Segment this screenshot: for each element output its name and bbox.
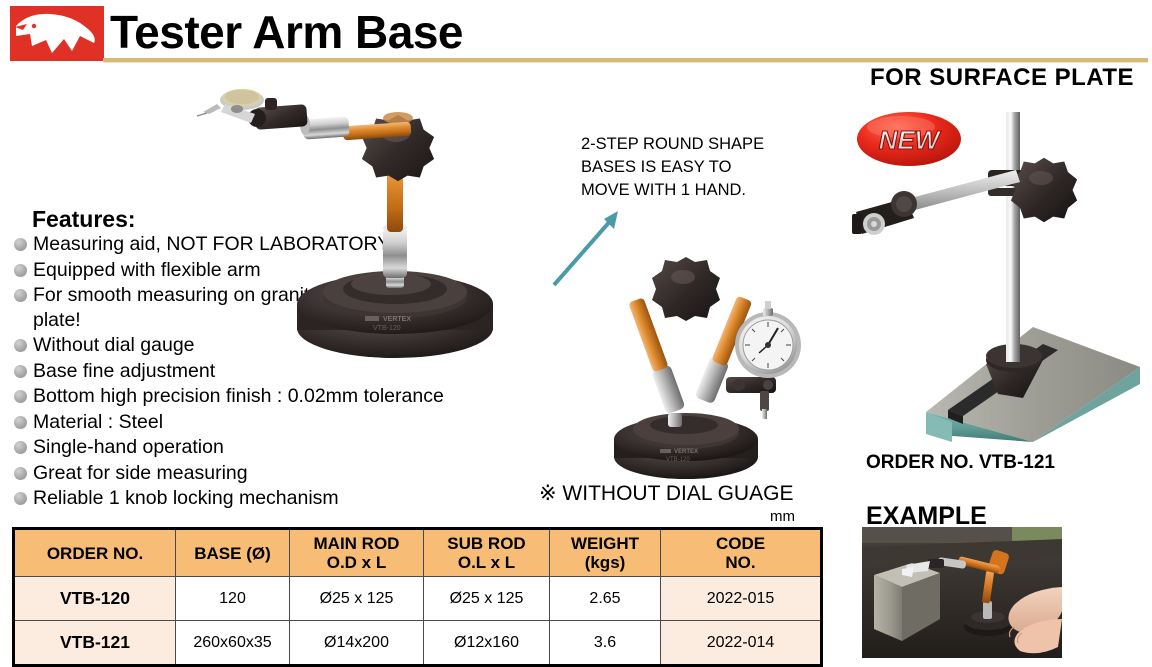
list-item: Bottom high precision finish : 0.02mm to…	[14, 384, 484, 409]
bullet-icon	[14, 238, 27, 251]
table-row: VTB-121 260x60x35 Ø14x200 Ø12x160 3.6 20…	[14, 621, 822, 666]
bullet-icon	[14, 441, 27, 454]
feature-text: Single-hand operation	[33, 435, 224, 460]
features-heading: Features:	[32, 206, 136, 233]
bullet-icon	[14, 416, 27, 429]
feature-text: Great for side measuring	[33, 461, 248, 486]
order-no-label: ORDER NO. VTB-121	[866, 452, 1055, 474]
svg-text:VERTEX: VERTEX	[674, 449, 698, 455]
bullet-icon	[14, 264, 27, 277]
cell-weight: 3.6	[550, 621, 661, 666]
svg-text:NEW: NEW	[879, 125, 942, 155]
tester-arm-with-dial-gauge-photo: VERTEX VTB-120	[608, 245, 828, 490]
for-surface-plate-heading: FOR SURFACE PLATE	[870, 64, 1134, 92]
svg-text:VTB-120: VTB-120	[666, 457, 690, 463]
cell-code-no: 2022-015	[661, 577, 822, 621]
feature-text: Reliable 1 knob locking mechanism	[33, 486, 339, 511]
list-item: Material : Steel	[14, 410, 484, 435]
svg-text:VERTEX: VERTEX	[383, 316, 411, 323]
cell-sub-rod: Ø25 x 125	[424, 577, 550, 621]
cell-order-no: VTB-120	[14, 577, 176, 621]
cell-order-no: VTB-121	[14, 621, 176, 666]
table-header-row: ORDER NO. BASE (Ø) MAIN RODO.D x L SUB R…	[14, 529, 822, 577]
bullet-icon	[14, 467, 27, 480]
column-header-base: BASE (Ø)	[176, 529, 290, 577]
header-divider-shadow	[103, 62, 1148, 63]
table-row: VTB-120 120 Ø25 x 125 Ø25 x 125 2.65 202…	[14, 577, 822, 621]
cell-code-no: 2022-014	[661, 621, 822, 666]
new-badge: NEW	[855, 110, 963, 168]
bullet-icon	[14, 390, 27, 403]
feature-text: Material : Steel	[33, 410, 163, 435]
specification-table: ORDER NO. BASE (Ø) MAIN RODO.D x L SUB R…	[12, 527, 823, 667]
page-title: Tester Arm Base	[110, 4, 463, 60]
feature-text: Without dial gauge	[33, 333, 195, 358]
column-header-main-rod: MAIN RODO.D x L	[290, 529, 424, 577]
cell-base: 120	[176, 577, 290, 621]
bullet-icon	[14, 339, 27, 352]
example-usage-photo	[862, 527, 1062, 658]
cell-sub-rod: Ø12x160	[424, 621, 550, 666]
column-header-sub-rod: SUB RODO.L x L	[424, 529, 550, 577]
svg-text:VTB-120: VTB-120	[373, 325, 401, 332]
list-item: Single-hand operation	[14, 435, 484, 460]
callout-text: 2-STEP ROUND SHAPE BASES IS EASY TO MOVE…	[581, 133, 771, 202]
column-header-code-no: CODENO.	[661, 529, 822, 577]
cell-main-rod: Ø25 x 125	[290, 577, 424, 621]
column-header-weight: WEIGHT(kgs)	[550, 529, 661, 577]
cell-main-rod: Ø14x200	[290, 621, 424, 666]
list-item: Reliable 1 knob locking mechanism	[14, 486, 484, 511]
without-dial-gauge-note: ※ WITHOUT DIAL GUAGE	[539, 481, 793, 506]
bullet-icon	[14, 289, 27, 302]
feature-text: Base fine adjustment	[33, 359, 215, 384]
vertex-eagle-logo-icon	[10, 6, 104, 61]
cell-weight: 2.65	[550, 577, 661, 621]
column-header-order-no: ORDER NO.	[14, 529, 176, 577]
tester-arm-base-vtb-120-photo: VERTEX VTB-120	[195, 78, 595, 368]
list-item: Great for side measuring	[14, 461, 484, 486]
feature-text: Bottom high precision finish : 0.02mm to…	[33, 384, 444, 409]
bullet-icon	[14, 492, 27, 505]
cell-base: 260x60x35	[176, 621, 290, 666]
bullet-icon	[14, 365, 27, 378]
unit-label: mm	[770, 508, 795, 525]
